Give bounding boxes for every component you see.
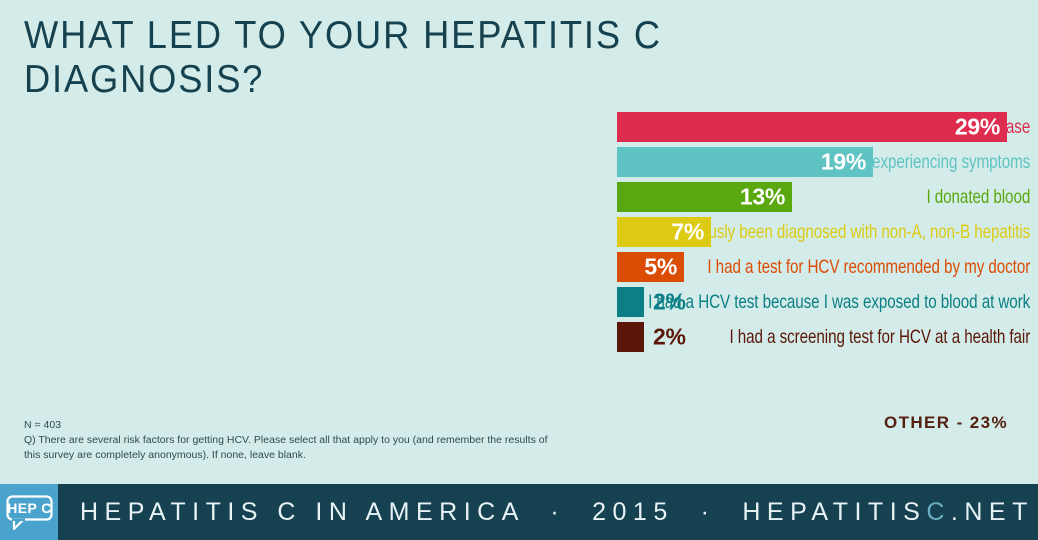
bar: 19% xyxy=(617,147,873,177)
bar: 2% xyxy=(617,287,644,317)
bar-value-label: 29% xyxy=(955,116,1000,139)
chart-row: I had previously been diagnosed with non… xyxy=(0,217,1038,252)
bar-value-label: 13% xyxy=(740,186,785,209)
footer-text-main: HEPATITIS C IN AMERICA · 2015 · HEPATITI… xyxy=(80,498,926,527)
chart-row: I had a screening test for HCV at a heal… xyxy=(0,322,1038,357)
chart-row: I had an HCV test because I was experien… xyxy=(0,147,1038,182)
bar-wrapper: 2% xyxy=(617,287,644,317)
bar-value-label: 2% xyxy=(653,291,686,314)
bar-chart: I had other blood tests that showed I mi… xyxy=(0,112,1038,357)
bar-value-label: 7% xyxy=(671,221,704,244)
bar-wrapper: 7% xyxy=(617,217,711,247)
bar-wrapper: 19% xyxy=(617,147,873,177)
bar-wrapper: 5% xyxy=(617,252,684,282)
chart-row: I donated blood13% xyxy=(0,182,1038,217)
footer-bar: HEP C HEPATITIS C IN AMERICA · 2015 · HE… xyxy=(0,484,1038,540)
footer-text-c: C xyxy=(926,498,951,527)
bar-value-label: 5% xyxy=(644,256,677,279)
bar: 13% xyxy=(617,182,792,212)
bar: 2% xyxy=(617,322,644,352)
bar: 7% xyxy=(617,217,711,247)
chart-row: I had other blood tests that showed I mi… xyxy=(0,112,1038,147)
infographic-page: WHAT LED TO YOUR HEPATITIS C DIAGNOSIS? … xyxy=(0,0,1038,540)
sample-size-note: N = 403 xyxy=(24,418,61,433)
bar-value-label: 19% xyxy=(821,151,866,174)
footer-text-tld: .NET xyxy=(951,498,1034,527)
page-title: WHAT LED TO YOUR HEPATITIS C DIAGNOSIS? xyxy=(24,14,861,102)
bar-wrapper: 2% xyxy=(617,322,644,352)
chart-row: I had a HCV test because I was exposed t… xyxy=(0,287,1038,322)
bar-wrapper: 29% xyxy=(617,112,1007,142)
bar-wrapper: 13% xyxy=(617,182,792,212)
other-annotation: OTHER - 23% xyxy=(884,413,1008,433)
bar: 29% xyxy=(617,112,1007,142)
bar-value-label: 2% xyxy=(653,326,686,349)
footer-text: HEPATITIS C IN AMERICA · 2015 · HEPATITI… xyxy=(80,484,1034,540)
svg-text:HEP C: HEP C xyxy=(7,500,52,516)
speech-bubble-icon: HEP C xyxy=(6,495,53,531)
question-note: Q) There are several risk factors for ge… xyxy=(24,433,564,462)
bar: 5% xyxy=(617,252,684,282)
chart-row: I had a test for HCV recommended by my d… xyxy=(0,252,1038,287)
hepc-logo[interactable]: HEP C xyxy=(0,484,58,540)
